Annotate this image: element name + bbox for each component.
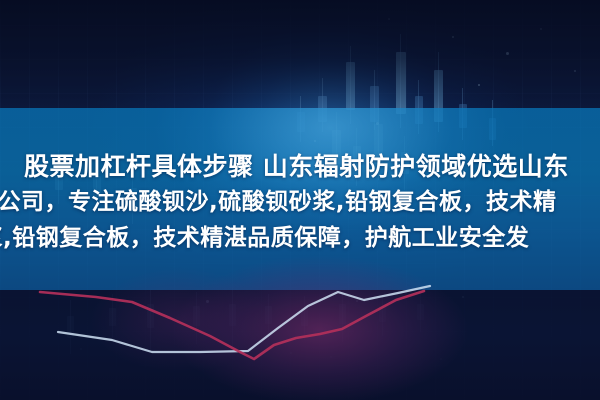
trend-line-light	[58, 286, 430, 352]
headline-text-block: 股票加杠杆具体步骤 山东辐射防护领域优选山东 限公司，专注硫酸钡沙,硫酸钡砂浆,…	[0, 150, 600, 290]
trend-line-red	[40, 291, 424, 359]
headline-line-2: 限公司，专注硫酸钡沙,硫酸钡砂浆,铅钢复合板，技术精	[0, 186, 556, 218]
headline-line-1: 股票加杠杆具体步骤 山东辐射防护领域优选山东	[24, 150, 569, 184]
banner-image: 股票加杠杆具体步骤 山东辐射防护领域优选山东 限公司，专注硫酸钡沙,硫酸钡砂浆,…	[0, 0, 600, 400]
headline-line-3: 砂浆,铅钢复合板，技术精湛品质保障，护航工业安全发	[0, 222, 529, 254]
